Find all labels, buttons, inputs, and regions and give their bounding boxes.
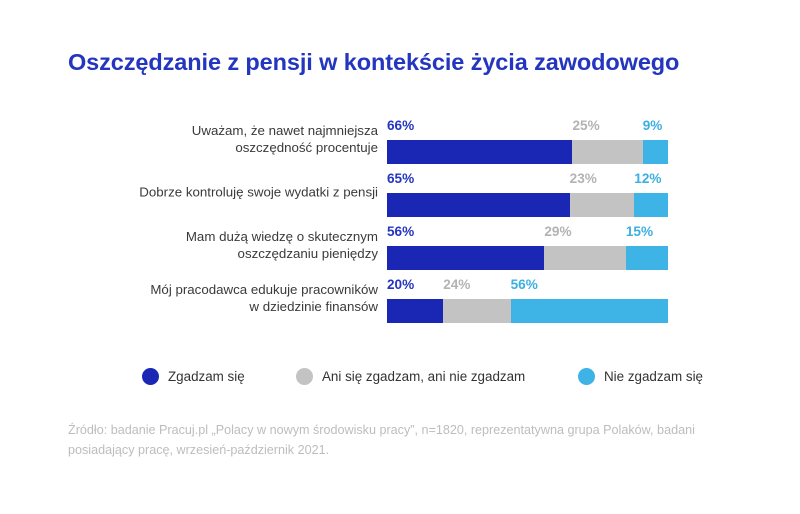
value-disagree: 12% — [634, 169, 661, 189]
value-disagree: 15% — [626, 222, 653, 242]
value-disagree: 56% — [511, 275, 538, 295]
bar-row: Mam dużą wiedzę o skutecznym oszczędzani… — [0, 218, 800, 271]
bar-row: Dobrze kontroluję swoje wydatki z pensji… — [0, 165, 800, 218]
bar-row-label: Mam dużą wiedzę o skutecznym oszczędzani… — [78, 228, 378, 262]
circle-icon-neutral — [296, 368, 313, 385]
chart-plot-area: Uważam, że nawet najmniejsza oszczędność… — [0, 112, 800, 324]
bar-track — [387, 299, 668, 323]
legend-label-agree: Zgadzam się — [168, 369, 245, 384]
chart-legend: Zgadzam się Ani się zgadzam, ani nie zga… — [0, 362, 800, 390]
bar-row: Uważam, że nawet najmniejsza oszczędność… — [0, 112, 800, 165]
bar-row: Mój pracodawca edukuje pracowników w dzi… — [0, 271, 800, 324]
bar-segment-neutral — [544, 246, 625, 270]
bar-segment-neutral — [572, 140, 642, 164]
legend-item-neutral: Ani się zgadzam, ani nie zgadzam — [296, 362, 525, 390]
value-neutral: 29% — [544, 222, 571, 242]
bar-track — [387, 246, 668, 270]
circle-icon-agree — [142, 368, 159, 385]
value-agree: 65% — [387, 169, 414, 189]
bar-segment-neutral — [570, 193, 635, 217]
value-neutral: 23% — [570, 169, 597, 189]
bar-track — [387, 140, 668, 164]
value-neutral: 24% — [443, 275, 470, 295]
bar-segment-agree — [387, 299, 443, 323]
legend-item-disagree: Nie zgadzam się — [578, 362, 703, 390]
value-agree: 66% — [387, 116, 414, 136]
bar-row-label: Mój pracodawca edukuje pracowników w dzi… — [78, 281, 378, 315]
bar-segment-neutral — [443, 299, 510, 323]
bar-segment-agree — [387, 246, 544, 270]
infographic-root: Oszczędzanie z pensji w kontekście życia… — [0, 0, 800, 514]
bar-value-strip: 66% 25% 9% — [387, 116, 668, 136]
value-neutral: 25% — [572, 116, 599, 136]
bar-value-strip: 65% 23% 12% — [387, 169, 668, 189]
bar-segment-agree — [387, 140, 572, 164]
bar-segment-agree — [387, 193, 570, 217]
bar-value-strip: 56% 29% 15% — [387, 222, 668, 242]
bar-value-strip: 20% 24% 56% — [387, 275, 668, 295]
circle-icon-disagree — [578, 368, 595, 385]
bar-segment-disagree — [643, 140, 668, 164]
value-agree: 20% — [387, 275, 414, 295]
bar-segment-disagree — [511, 299, 668, 323]
value-disagree: 9% — [643, 116, 663, 136]
bar-row-label: Dobrze kontroluję swoje wydatki z pensji — [78, 183, 378, 200]
bar-segment-disagree — [626, 246, 668, 270]
value-agree: 56% — [387, 222, 414, 242]
bar-row-label: Uważam, że nawet najmniejsza oszczędność… — [78, 122, 378, 156]
legend-item-agree: Zgadzam się — [142, 362, 245, 390]
bar-segment-disagree — [634, 193, 668, 217]
legend-label-disagree: Nie zgadzam się — [604, 369, 703, 384]
page-title: Oszczędzanie z pensji w kontekście życia… — [68, 48, 748, 76]
legend-label-neutral: Ani się zgadzam, ani nie zgadzam — [322, 369, 525, 384]
source-note: Źródło: badanie Pracuj.pl „Polacy w nowy… — [68, 420, 738, 460]
bar-track — [387, 193, 668, 217]
